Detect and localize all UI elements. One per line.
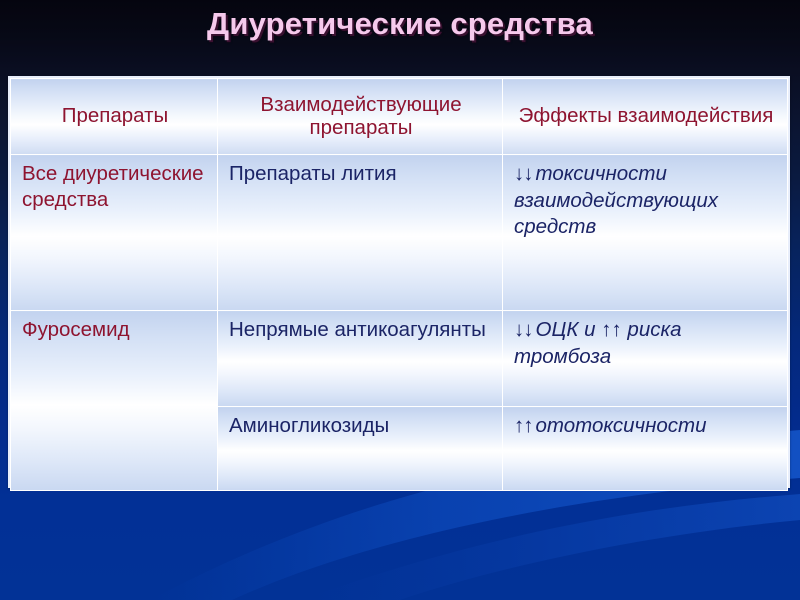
table-header-row: Препараты Взаимодействующие препараты Эф… [11, 79, 788, 155]
column-header-drugs: Препараты [11, 79, 218, 155]
cell-interacting-2: Аминогликозиды [218, 407, 503, 491]
effect-text-1: ОЦК и ↑↑ риска тромбоза [514, 318, 682, 368]
cell-drug-1: Фуросемид [11, 311, 218, 491]
column-header-interacting: Взаимодействующие препараты [218, 79, 503, 155]
cell-drug-0: Все диуретические средства [11, 155, 218, 311]
column-header-effects: Эффекты взаимодействия [503, 79, 788, 155]
cell-effect-0: ↓↓токсичности взаимодействующих средств [503, 155, 788, 311]
effect-text-0: токсичности взаимодействующих средств [514, 162, 718, 238]
cell-effect-2: ↑↑ототоксичности [503, 407, 788, 491]
table-row: Все диуретические средства Препараты лит… [11, 155, 788, 311]
cell-interacting-0: Препараты лития [218, 155, 503, 311]
cell-effect-1: ↓↓ОЦК и ↑↑ риска тромбоза [503, 311, 788, 407]
table-row: Фуросемид Непрямые антикоагулянты ↓↓ОЦК … [11, 311, 788, 407]
interactions-table-container: Препараты Взаимодействующие препараты Эф… [8, 76, 790, 488]
drug-interactions-table: Препараты Взаимодействующие препараты Эф… [10, 78, 788, 491]
arrows-down-icon: ↓↓ [514, 318, 536, 341]
cell-interacting-1: Непрямые антикоагулянты [218, 311, 503, 407]
arrows-down-icon: ↓↓ [514, 162, 536, 185]
slide-title-bar: Диуретические средства [0, 6, 800, 42]
effect-text-2: ототоксичности [536, 414, 707, 437]
slide-canvas: Диуретические средства Препараты Взаимод… [0, 0, 800, 600]
arrows-up-icon: ↑↑ [514, 414, 536, 437]
page-title: Диуретические средства [207, 6, 593, 42]
